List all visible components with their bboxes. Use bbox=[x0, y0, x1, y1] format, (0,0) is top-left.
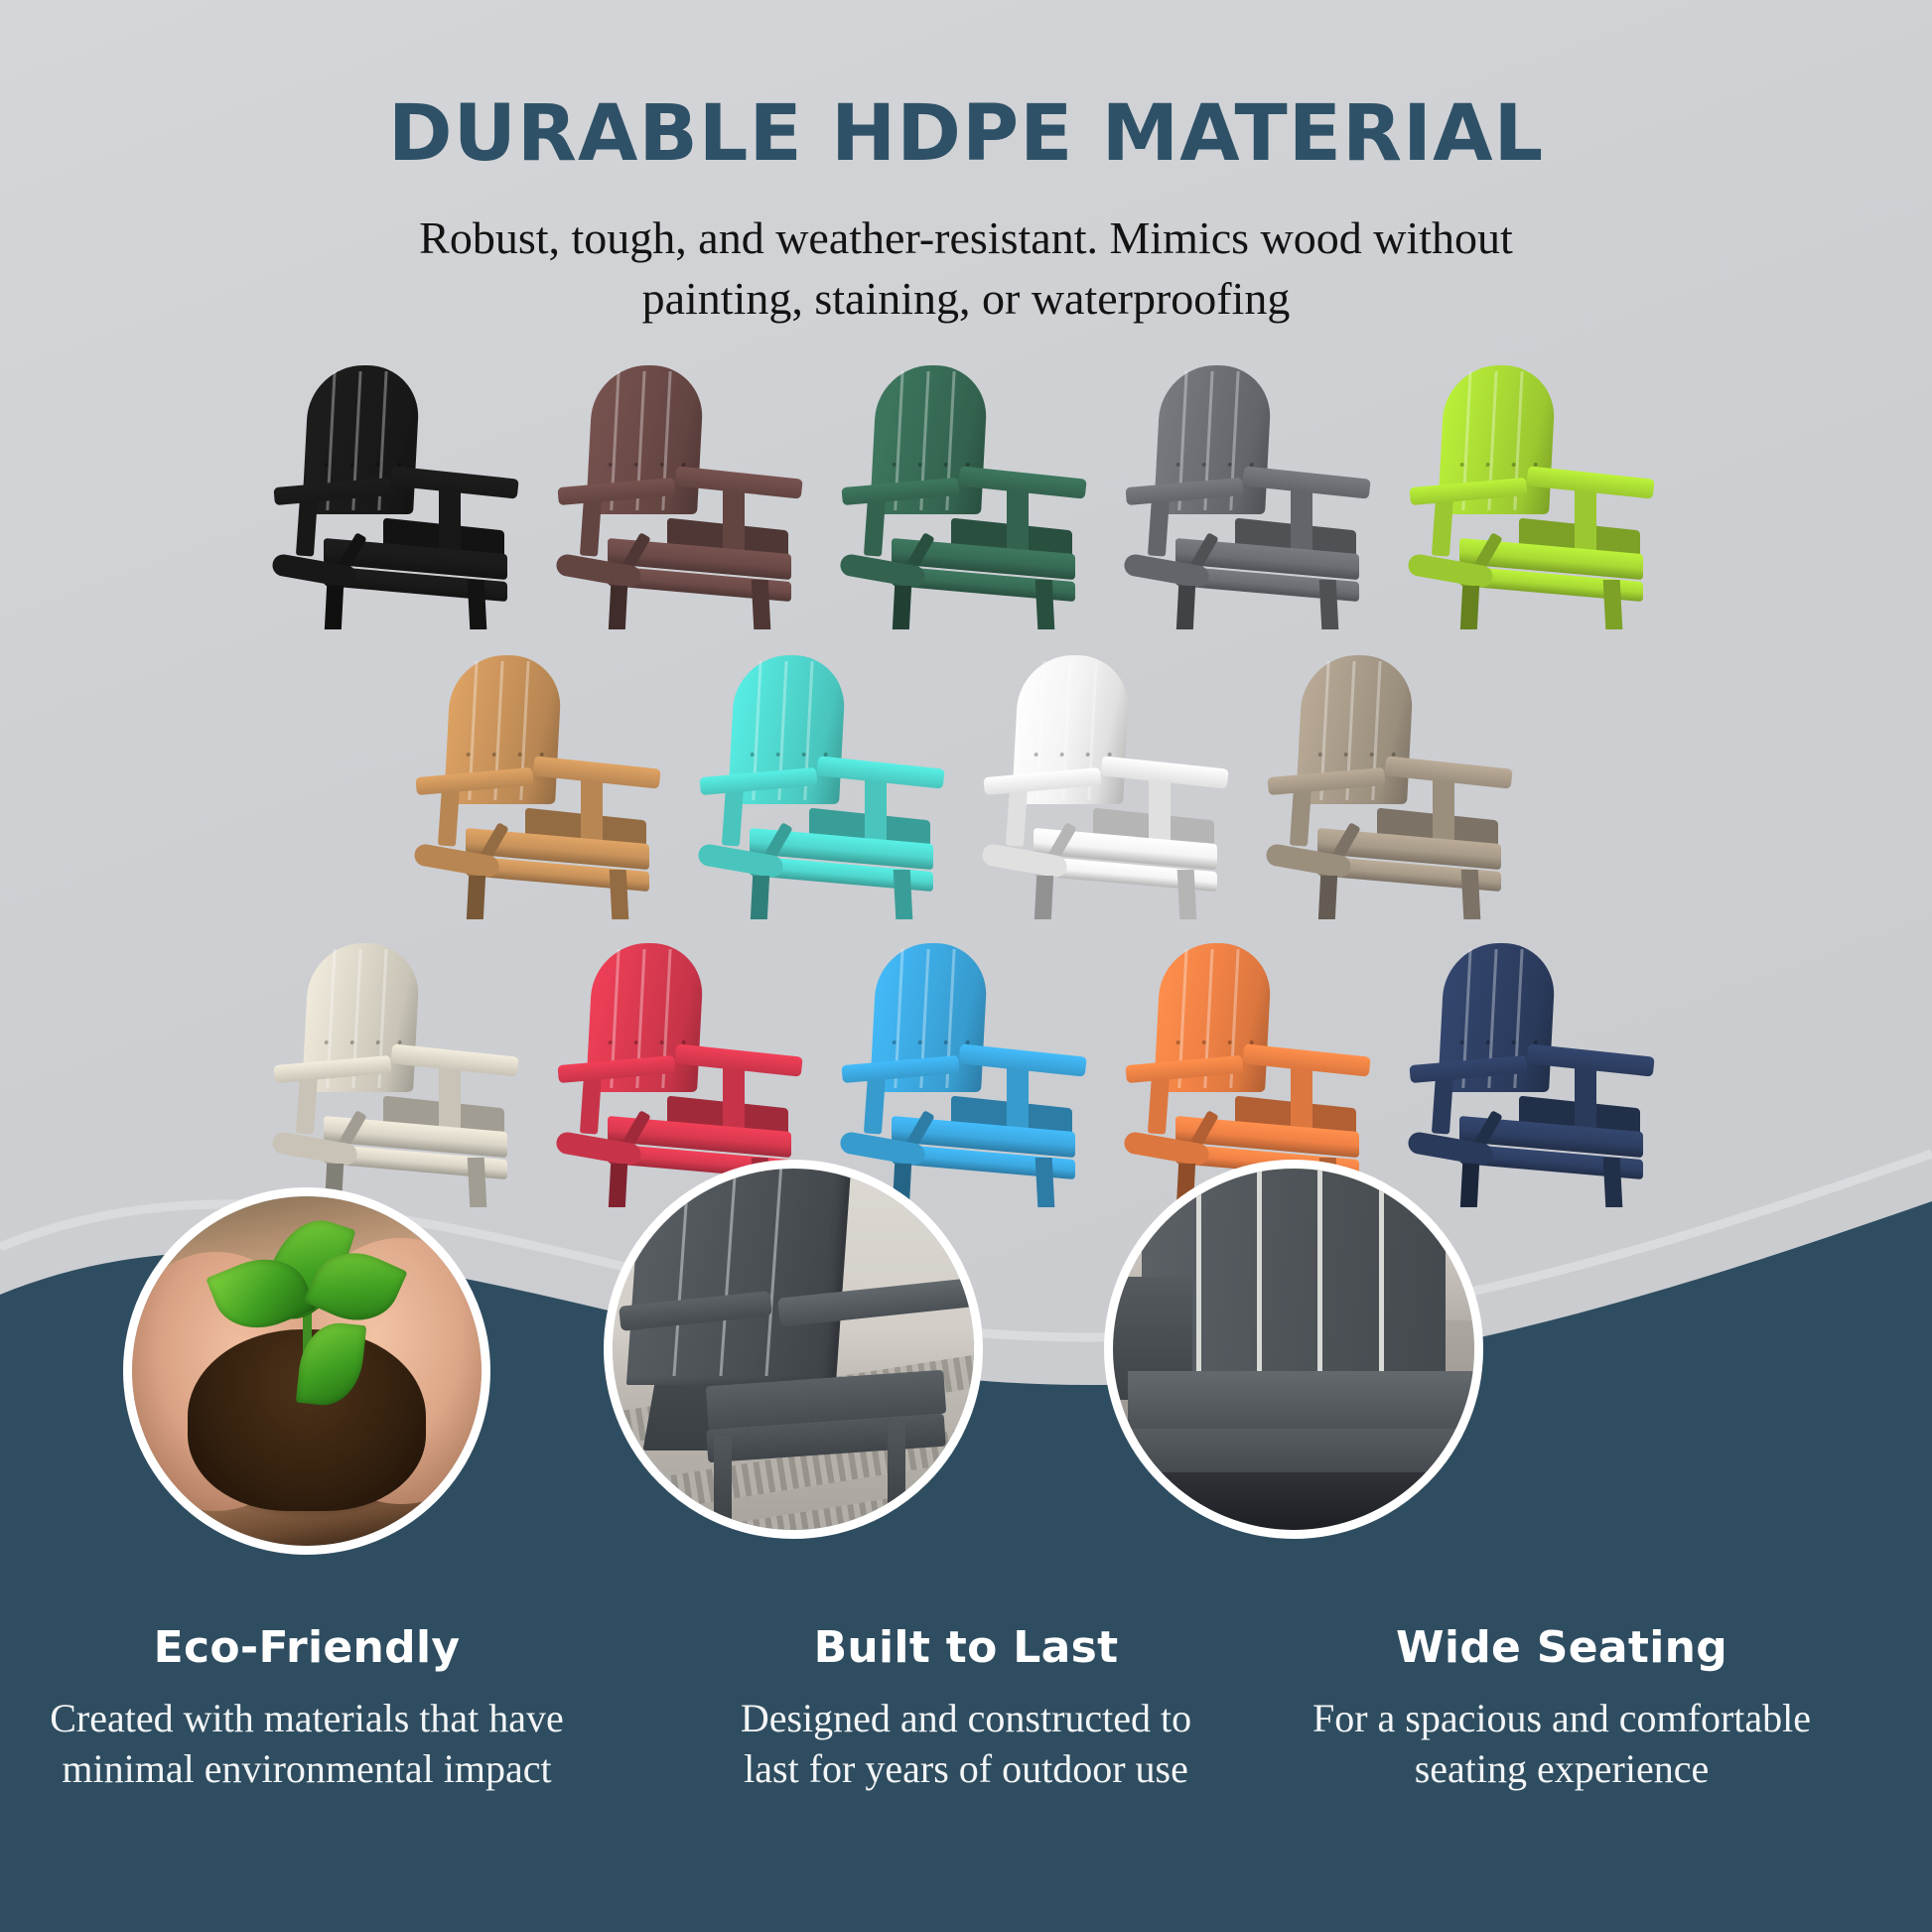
chair-leg-right bbox=[1461, 870, 1481, 919]
chair-leg-right bbox=[894, 870, 913, 919]
chair-leg-left bbox=[609, 586, 627, 629]
chair-color-row-2 bbox=[0, 655, 1932, 918]
adirondack-chair-icon bbox=[974, 655, 1242, 918]
feature-text-wide-seating: Wide Seating For a spacious and comforta… bbox=[1264, 1622, 1860, 1794]
chair-swatch-black bbox=[264, 365, 532, 628]
screw-dots bbox=[1029, 753, 1112, 757]
chair-leg-right bbox=[752, 580, 771, 629]
chair-leg-right bbox=[1177, 870, 1197, 919]
page-subtitle: Robust, tough, and weather-resistant. Mi… bbox=[0, 208, 1932, 329]
chair-swatch-turquoise bbox=[690, 655, 958, 918]
hands-soil-seedling-image bbox=[132, 1196, 482, 1546]
chair-leg-left bbox=[751, 876, 769, 919]
screw-dots bbox=[745, 753, 828, 757]
adirondack-chair-icon bbox=[406, 655, 674, 918]
chair-leg-left bbox=[325, 586, 344, 629]
screw-dots bbox=[319, 1040, 402, 1044]
feature-body-line-1: For a spacious and comfortable bbox=[1312, 1696, 1811, 1740]
adirondack-chair-icon bbox=[690, 655, 958, 918]
adirondack-chair-icon bbox=[548, 365, 816, 628]
header-block: DURABLE HDPE MATERIAL Robust, tough, and… bbox=[0, 95, 1932, 329]
feature-photo-eco-friendly bbox=[123, 1187, 490, 1555]
chair-swatch-dark-green bbox=[832, 365, 1100, 628]
chair-front-post-left bbox=[296, 495, 318, 556]
feature-body-line-1: Created with materials that have bbox=[50, 1696, 564, 1740]
adirondack-chair-icon bbox=[832, 365, 1100, 628]
feature-text-eco-friendly: Eco-Friendly Created with materials that… bbox=[9, 1622, 605, 1794]
page-title: DURABLE HDPE MATERIAL bbox=[0, 95, 1932, 173]
chair-leg-left bbox=[1318, 876, 1337, 919]
screw-dots bbox=[319, 463, 402, 467]
adirondack-chair-icon bbox=[1258, 655, 1526, 918]
feature-body-line-2: minimal environmental impact bbox=[62, 1746, 551, 1791]
feature-photo-wide-seating bbox=[1104, 1160, 1483, 1539]
chair-leg-left bbox=[893, 586, 911, 629]
adirondack-chair-icon bbox=[1116, 365, 1384, 628]
chair-front-post-left bbox=[722, 785, 744, 846]
chair-swatch-brown bbox=[548, 365, 816, 628]
chair-front-post-left bbox=[1006, 785, 1028, 846]
feature-body-line-2: seating experience bbox=[1415, 1746, 1710, 1791]
chair-swatch-white bbox=[974, 655, 1242, 918]
chair-swatch-teak bbox=[406, 655, 674, 918]
screw-dots bbox=[1454, 463, 1538, 467]
chair-leg-left bbox=[1176, 586, 1195, 629]
chair-front-post-left bbox=[1290, 785, 1311, 846]
chair-leg-right bbox=[468, 580, 487, 629]
chair-back bbox=[626, 1169, 852, 1385]
screw-dots bbox=[887, 1040, 970, 1044]
chair-leg-right bbox=[1035, 580, 1055, 629]
chair-front-post-left bbox=[864, 495, 886, 556]
feature-body-line-1: Designed and constructed to bbox=[741, 1696, 1191, 1740]
chair-front-post-left bbox=[1432, 495, 1453, 556]
screw-dots bbox=[461, 753, 544, 757]
chair-front-post-left bbox=[580, 495, 602, 556]
chair-color-row-1 bbox=[0, 365, 1932, 628]
feature-heading: Built to Last bbox=[668, 1622, 1264, 1673]
screw-dots bbox=[1312, 753, 1396, 757]
subtitle-line-2: painting, staining, or waterproofing bbox=[642, 273, 1291, 324]
feature-heading: Wide Seating bbox=[1264, 1622, 1860, 1673]
feature-body-line-2: last for years of outdoor use bbox=[744, 1746, 1188, 1791]
screw-dots bbox=[1171, 463, 1254, 467]
chair-swatch-lime-green bbox=[1400, 365, 1668, 628]
chair-swatch-gray bbox=[1116, 365, 1384, 628]
screw-dots bbox=[603, 1040, 686, 1044]
wide-seat-closeup-image bbox=[1113, 1169, 1474, 1530]
infographic-canvas: DURABLE HDPE MATERIAL Robust, tough, and… bbox=[0, 0, 1932, 1932]
feature-heading: Eco-Friendly bbox=[9, 1622, 605, 1673]
screw-dots bbox=[1454, 1040, 1538, 1044]
adirondack-chair-icon bbox=[1400, 365, 1668, 628]
chair-seat-slat bbox=[1128, 1371, 1474, 1429]
screw-dots bbox=[1171, 1040, 1254, 1044]
feature-photo-built-to-last bbox=[604, 1160, 983, 1539]
chair-leg-left bbox=[467, 876, 485, 919]
chair-front-post-left bbox=[1148, 495, 1170, 556]
feature-text-built-to-last: Built to Last Designed and constructed t… bbox=[668, 1622, 1264, 1794]
subtitle-line-1: Robust, tough, and weather-resistant. Mi… bbox=[419, 212, 1513, 263]
screw-dots bbox=[603, 463, 686, 467]
chair-leg-left bbox=[1035, 876, 1053, 919]
chair-front-post-left bbox=[438, 785, 460, 846]
feature-body: For a spacious and comfortable seating e… bbox=[1264, 1693, 1860, 1794]
chair-leg-right bbox=[610, 870, 629, 919]
feature-body: Created with materials that have minimal… bbox=[9, 1693, 605, 1794]
adirondack-chair-icon bbox=[264, 365, 532, 628]
chair-swatch-weathered-wood bbox=[1258, 655, 1526, 918]
feature-body: Designed and constructed to last for yea… bbox=[668, 1693, 1264, 1794]
screw-dots bbox=[887, 463, 970, 467]
chair-leg-left bbox=[1460, 586, 1479, 629]
gray-chair-patio-image bbox=[613, 1169, 974, 1530]
chair-leg-right bbox=[1603, 580, 1623, 629]
chair-leg-right bbox=[1319, 580, 1339, 629]
